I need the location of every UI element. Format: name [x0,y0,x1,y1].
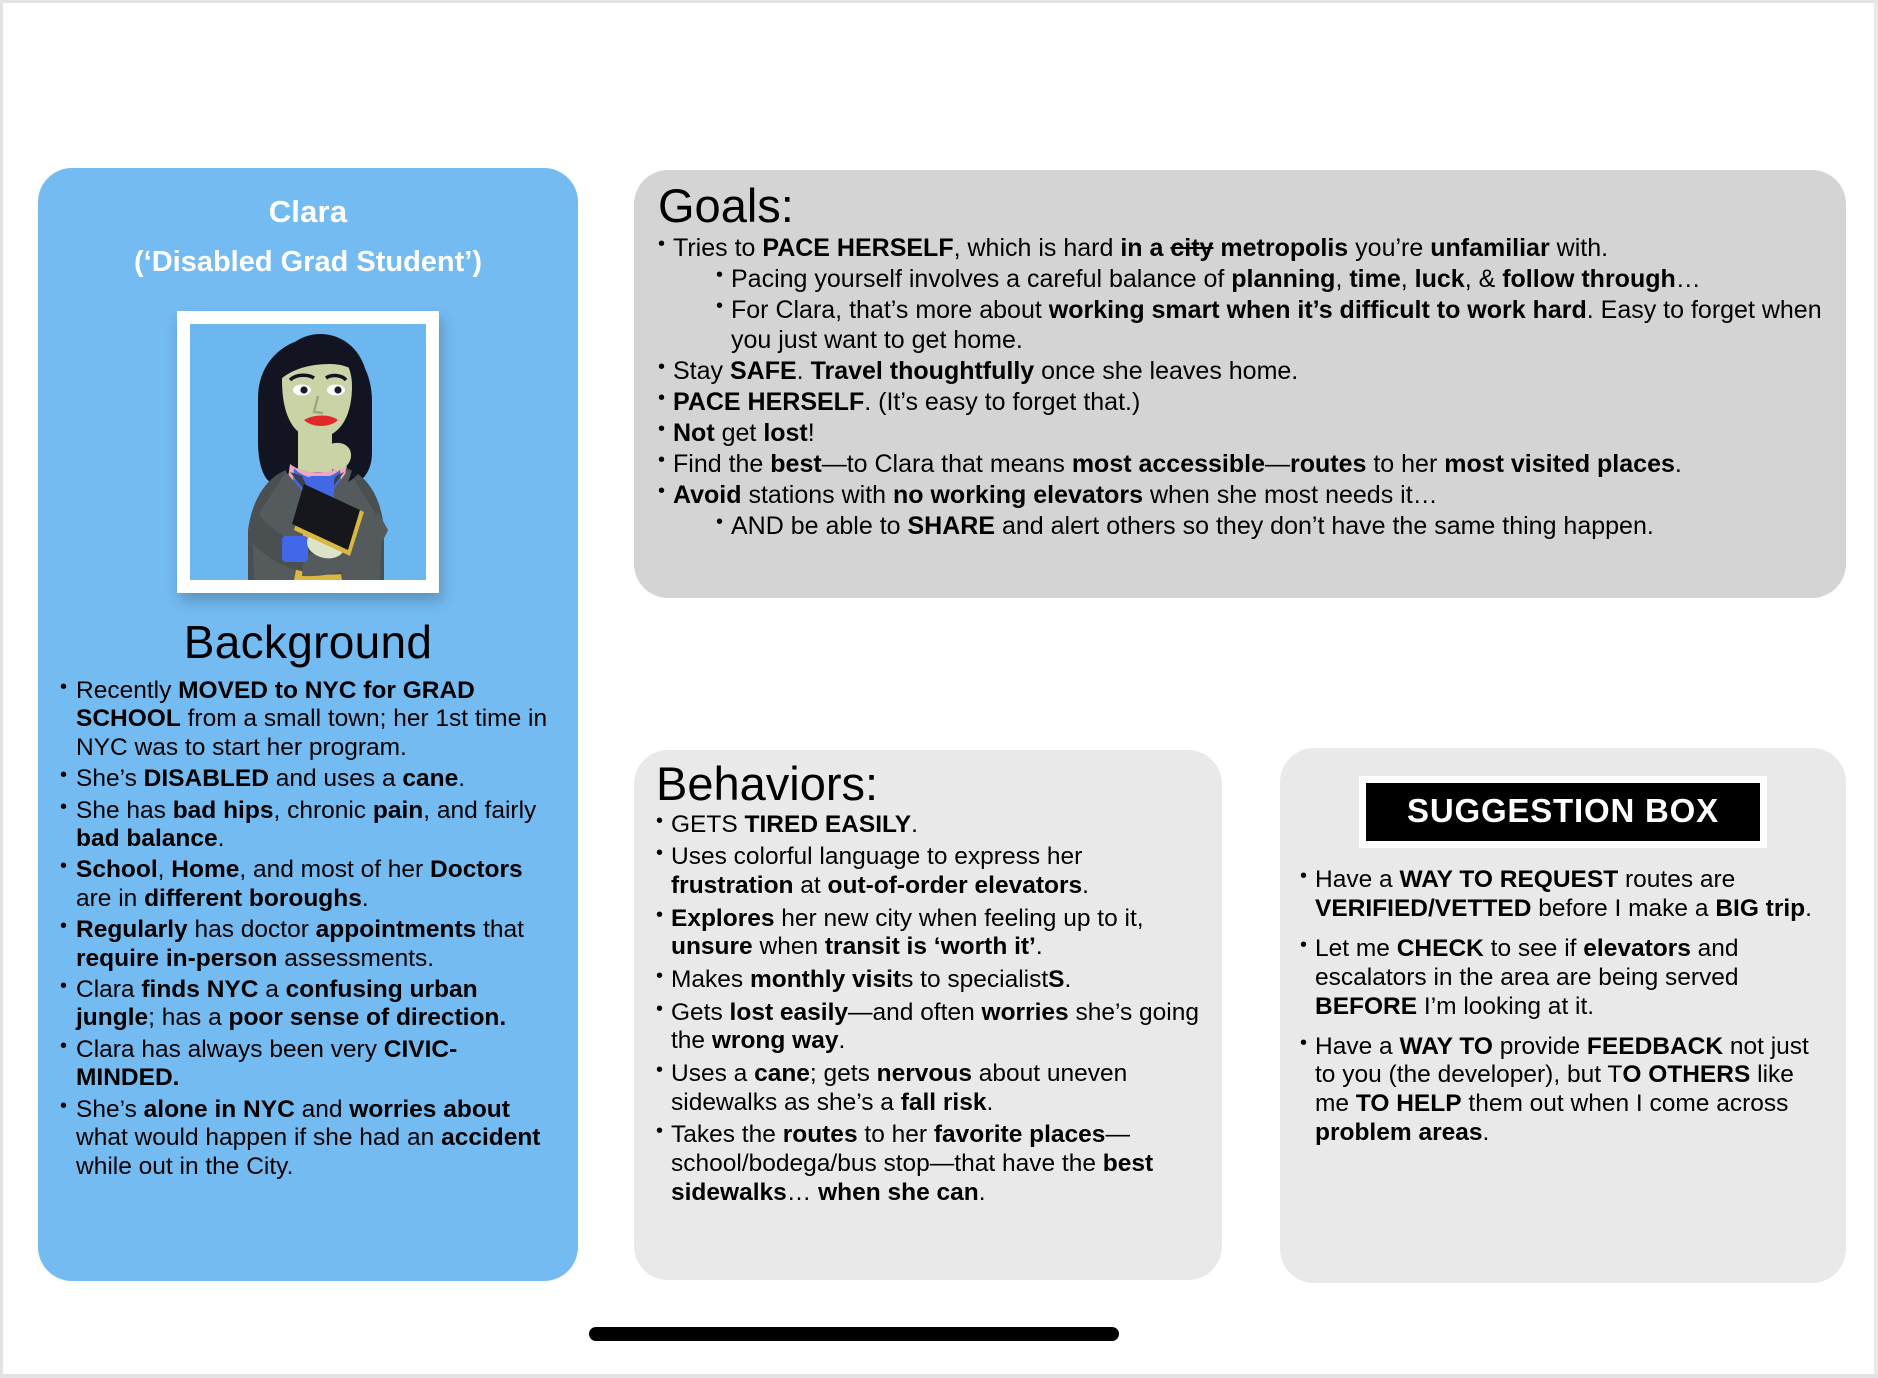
list-item: Takes the routes to her favorite places—… [656,1121,1202,1207]
goals-bullet-list: Tries to PACE HERSELF, which is hard in … [658,233,1824,541]
behaviors-panel: Behaviors: GETS TIRED EASILY.Uses colorf… [634,750,1222,1280]
list-item: Have a WAY TO REQUEST routes are VERIFIE… [1300,866,1826,924]
list-item: Uses a cane; gets nervous about uneven s… [656,1060,1202,1117]
list-item: Let me CHECK to see if elevators and esc… [1300,935,1826,1022]
goals-panel: Goals: Tries to PACE HERSELF, which is h… [634,170,1846,598]
behaviors-bullet-list: GETS TIRED EASILY.Uses colorful language… [656,811,1202,1208]
persona-photo-frame [177,311,439,593]
list-item: She’s DISABLED and uses a cane. [60,765,560,793]
list-item: Avoid stations with no working elevators… [658,480,1824,510]
list-item: PACE HERSELF. (It’s easy to forget that.… [658,387,1824,417]
list-item: AND be able to SHARE and alert others so… [716,511,1824,541]
background-heading: Background [38,615,578,669]
persona-name: Clara [38,194,578,230]
list-item: Regularly has doctor appointments that r… [60,916,560,973]
window-edge-top [0,0,1878,3]
list-item: Find the best—to Clara that means most a… [658,449,1824,479]
window-edge-bottom [0,1374,1878,1378]
persona-card: Clara (‘Disabled Grad Student’) [38,168,578,1281]
list-item: Pacing yourself involves a careful balan… [716,264,1824,294]
list-item: Recently MOVED to NYC for GRAD SCHOOL fr… [60,677,560,762]
list-item: School, Home, and most of her Doctors ar… [60,856,560,913]
list-item: Uses colorful language to express her fr… [656,843,1202,900]
list-item: Have a WAY TO provide FEEDBACK not just … [1300,1033,1826,1149]
list-item: Explores her new city when feeling up to… [656,905,1202,962]
window-edge-left [0,0,3,1378]
list-item: Tries to PACE HERSELF, which is hard in … [658,233,1824,263]
window-edge-right [1874,0,1878,1378]
suggestion-box-banner-label: SUGGESTION BOX [1407,792,1719,829]
persona-board-page: Clara (‘Disabled Grad Student’) [0,0,1878,1378]
behaviors-heading: Behaviors: [656,758,1202,810]
home-indicator-bar[interactable] [589,1327,1119,1341]
list-item: Clara finds NYC a confusing urban jungle… [60,976,560,1033]
suggestion-box-panel: SUGGESTION BOX Have a WAY TO REQUEST rou… [1280,748,1846,1283]
suggestion-box-banner: SUGGESTION BOX [1359,776,1767,848]
list-item: For Clara, that’s more about working sma… [716,295,1824,355]
persona-portrait-icon [190,324,426,580]
list-item: She’s alone in NYC and worries about wha… [60,1096,560,1181]
list-item: Stay SAFE. Travel thoughtfully once she … [658,356,1824,386]
list-item: She has bad hips, chronic pain, and fair… [60,797,560,854]
suggestion-bullet-list: Have a WAY TO REQUEST routes are VERIFIE… [1300,866,1826,1148]
goals-heading: Goals: [658,180,1824,232]
list-item: Makes monthly visits to specialistS. [656,966,1202,995]
list-item: Not get lost! [658,418,1824,448]
background-bullet-list: Recently MOVED to NYC for GRAD SCHOOL fr… [60,677,560,1181]
list-item: Gets lost easily—and often worries she’s… [656,999,1202,1056]
list-item: GETS TIRED EASILY. [656,811,1202,840]
persona-role: (‘Disabled Grad Student’) [38,246,578,279]
list-item: Clara has always been very CIVIC-MINDED. [60,1036,560,1093]
